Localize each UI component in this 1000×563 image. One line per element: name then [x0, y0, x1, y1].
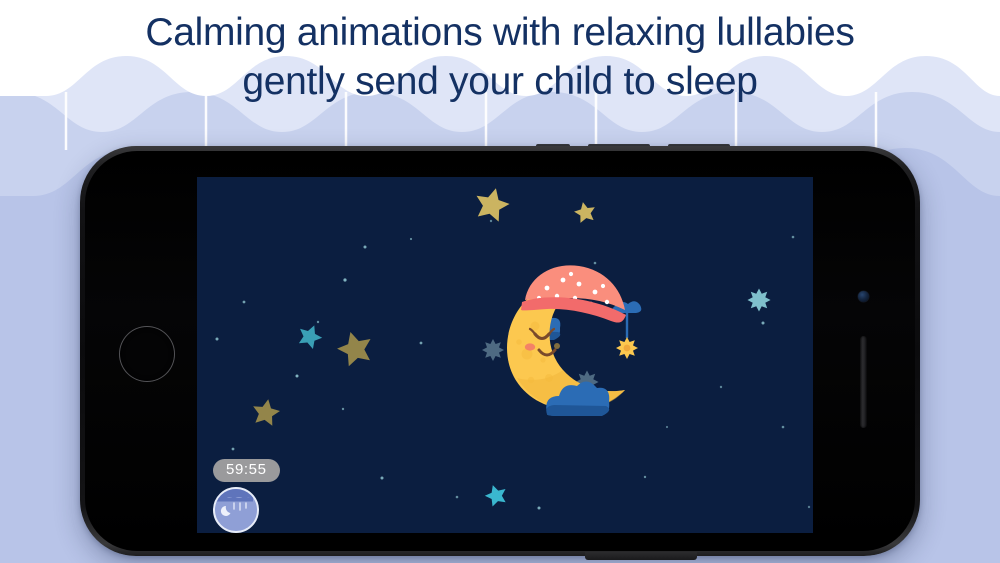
night-sky-scene [197, 177, 813, 533]
front-camera-icon [858, 291, 869, 302]
app-screenshot: Calming animations with relaxing lullabi… [0, 0, 1000, 563]
headline-line-1: Calming animations with relaxing lullabi… [0, 8, 1000, 57]
rain-sound-toggle-button[interactable] [213, 487, 259, 533]
phone-bezel: 59:55 [85, 151, 915, 551]
burst-teal-1 [747, 288, 770, 311]
sleep-timer-badge[interactable]: 59:55 [213, 459, 280, 482]
bottom-speaker-nub [585, 552, 697, 560]
phone-screen[interactable]: 59:55 [197, 177, 813, 533]
home-button[interactable] [119, 326, 175, 382]
burst-slate-1 [482, 339, 504, 361]
page-title: Calming animations with relaxing lullabi… [0, 8, 1000, 106]
moon-rain-icon [215, 489, 253, 527]
headline-line-2: gently send your child to sleep [0, 57, 1000, 106]
earpiece-speaker [860, 336, 867, 428]
phone-mockup: 59:55 [80, 146, 920, 556]
phone-body: 59:55 [80, 146, 920, 556]
